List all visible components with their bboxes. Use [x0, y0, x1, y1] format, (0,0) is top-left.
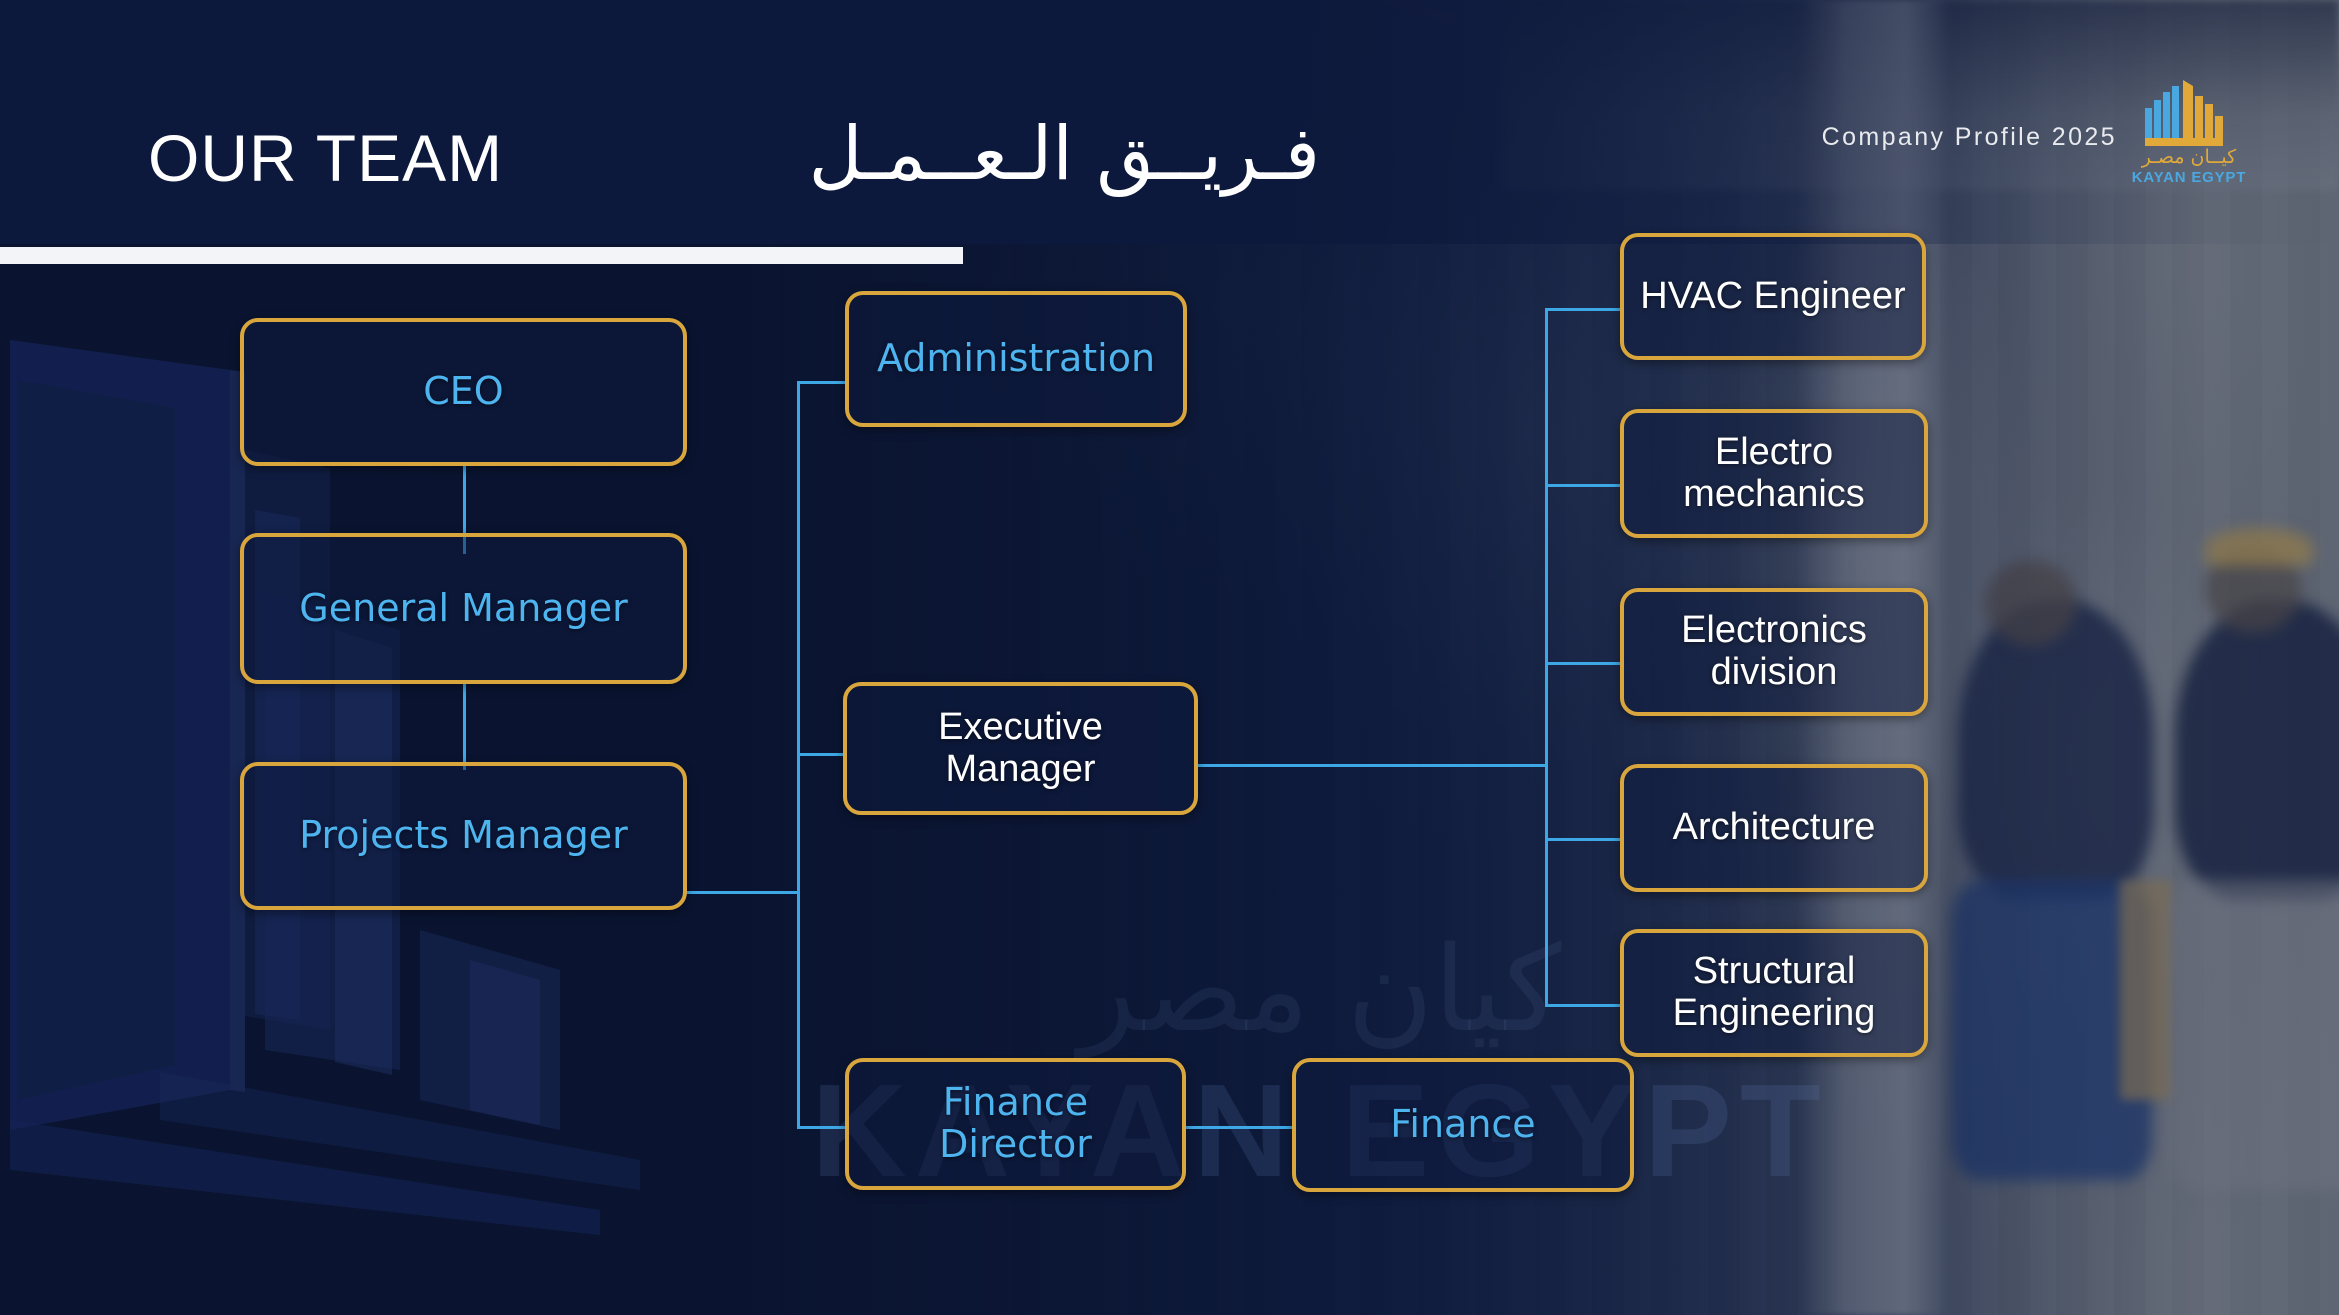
connector-right-trunk: [1545, 308, 1548, 1005]
node-projects-manager[interactable]: Projects Manager: [240, 762, 687, 910]
node-hvac-engineer-label: HVAC Engineer: [1626, 276, 1919, 318]
node-electro-mechanics[interactable]: Electro mechanics: [1620, 409, 1928, 538]
org-chart: CEO General Manager Projects Manager Adm…: [0, 0, 2339, 1315]
connector-trunk-to-structural-engineering: [1545, 1004, 1622, 1007]
connector-trunk-to-electro-mechanics: [1545, 484, 1622, 487]
node-electronics-division[interactable]: Electronics division: [1620, 588, 1928, 716]
node-executive-manager[interactable]: Executive Manager: [843, 682, 1198, 815]
connector-general-to-projects-manager: [463, 684, 466, 770]
connector-trunk-to-finance-director: [797, 1126, 847, 1129]
node-administration[interactable]: Administration: [845, 291, 1187, 427]
node-architecture[interactable]: Architecture: [1620, 764, 1928, 892]
node-finance-director[interactable]: Finance Director: [845, 1058, 1186, 1190]
node-hvac-engineer[interactable]: HVAC Engineer: [1620, 233, 1926, 360]
node-electro-mechanics-label: Electro mechanics: [1624, 432, 1924, 516]
node-finance[interactable]: Finance: [1292, 1058, 1634, 1192]
connector-trunk-to-architecture: [1545, 838, 1622, 841]
node-general-manager[interactable]: General Manager: [240, 533, 687, 684]
node-administration-label: Administration: [863, 338, 1169, 380]
node-structural-engineering[interactable]: Structural Engineering: [1620, 929, 1928, 1057]
connector-projects-manager-to-trunk: [686, 891, 799, 894]
node-executive-manager-label: Executive Manager: [847, 707, 1194, 791]
node-projects-manager-label: Projects Manager: [285, 815, 641, 857]
connector-finance-director-to-finance: [1186, 1126, 1294, 1129]
node-architecture-label: Architecture: [1659, 807, 1890, 849]
node-ceo[interactable]: CEO: [240, 318, 687, 466]
node-electronics-division-label: Electronics division: [1624, 610, 1924, 694]
node-finance-director-label: Finance Director: [849, 1082, 1182, 1166]
connector-trunk-to-executive-manager: [797, 753, 843, 756]
node-general-manager-label: General Manager: [285, 588, 641, 630]
node-finance-label: Finance: [1376, 1104, 1549, 1146]
node-ceo-label: CEO: [409, 371, 517, 413]
connector-executive-manager-to-right-trunk: [1196, 764, 1548, 767]
node-structural-engineering-label: Structural Engineering: [1624, 951, 1924, 1035]
connector-trunk-to-electronics-division: [1545, 662, 1622, 665]
connector-trunk-to-hvac-engineer: [1545, 308, 1622, 311]
slide-root: كيان مصر KAYAN EGYPT OUR TEAM فـريــق ال…: [0, 0, 2339, 1315]
connector-trunk-to-administration: [797, 381, 847, 384]
